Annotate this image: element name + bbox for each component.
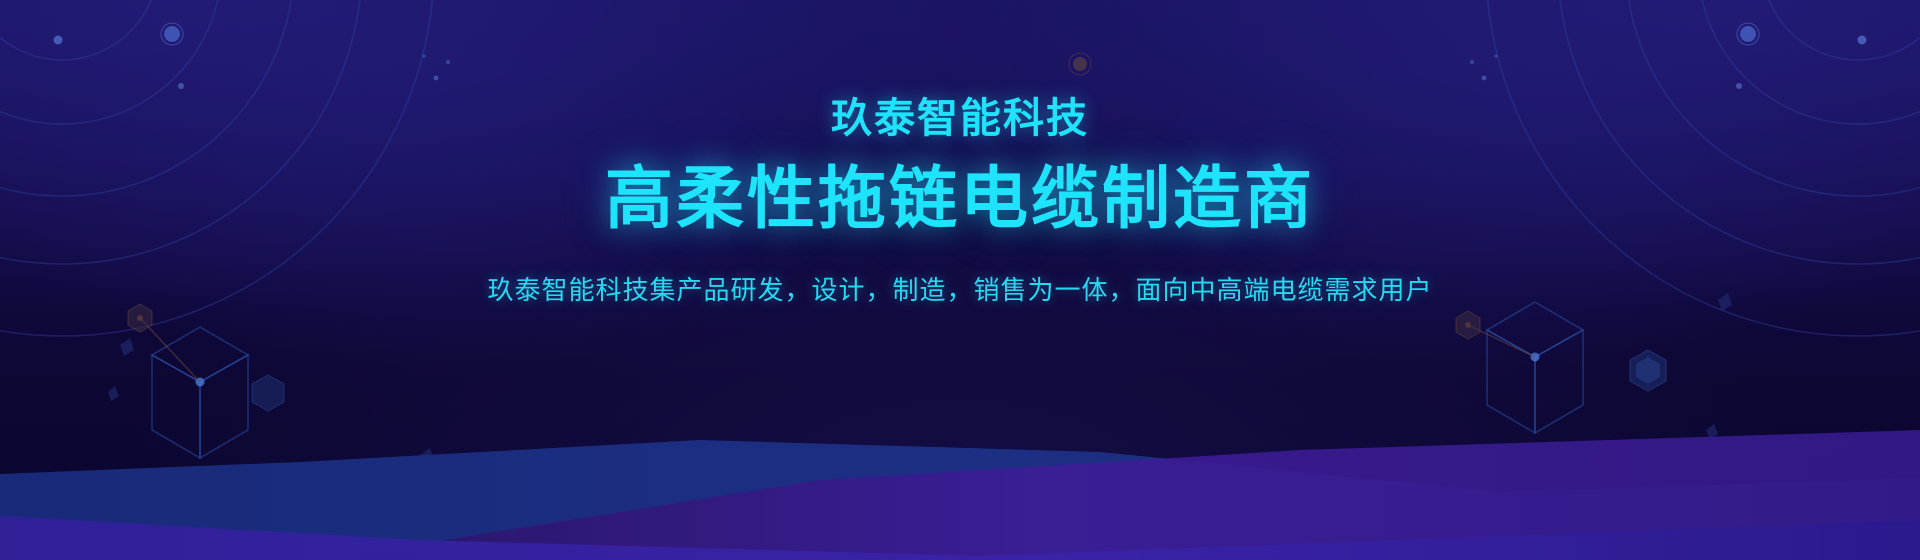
banner-tagline: 玖泰智能科技集产品研发，设计，制造，销售为一体，面向中高端电缆需求用户 — [487, 277, 1432, 303]
page-title: 高柔性拖链电缆制造商 — [605, 165, 1315, 233]
banner-content: 玖泰智能科技 高柔性拖链电缆制造商 玖泰智能科技集产品研发，设计，制造，销售为一… — [0, 0, 1920, 560]
brand-name: 玖泰智能科技 — [831, 98, 1089, 139]
hero-banner: 玖泰智能科技 高柔性拖链电缆制造商 玖泰智能科技集产品研发，设计，制造，销售为一… — [0, 0, 1920, 560]
